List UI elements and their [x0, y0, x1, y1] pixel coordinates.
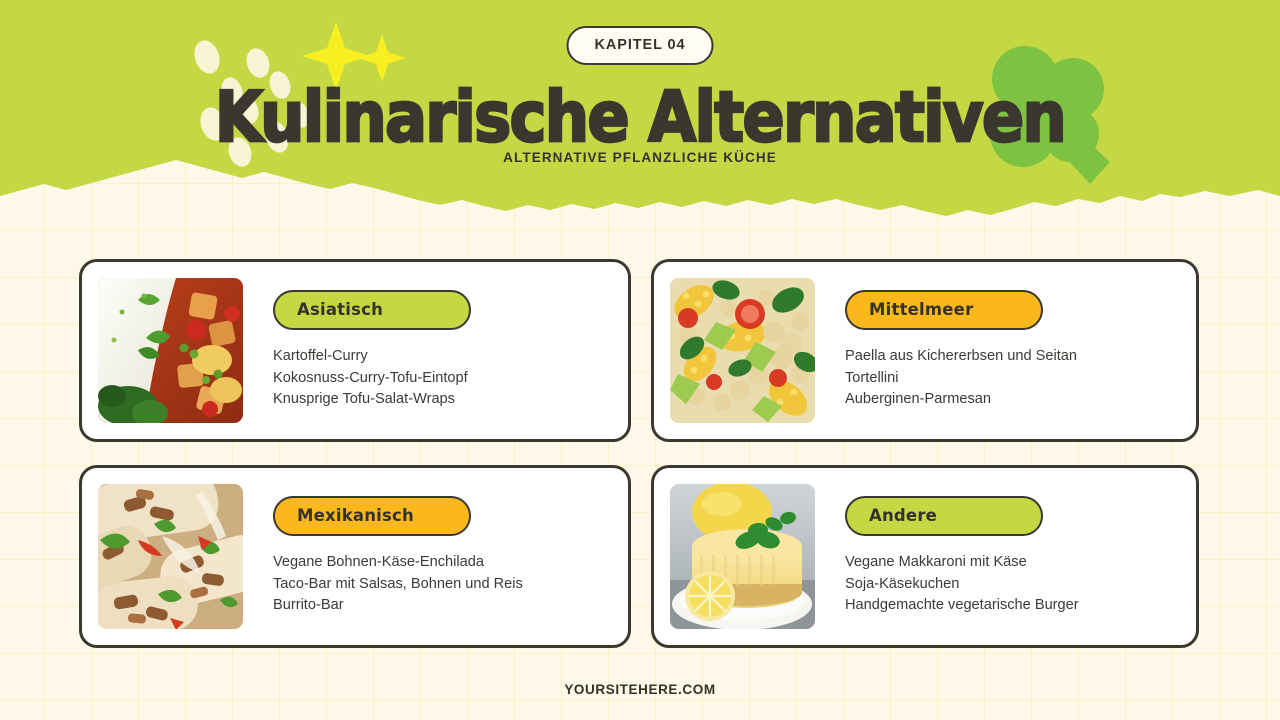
footer-website: YOURSITEHERE.COM	[0, 682, 1280, 697]
dish-item: Soja-Käsekuchen	[845, 574, 1174, 596]
burrito-wraps-photo	[98, 484, 243, 629]
category-card-mexikanisch[interactable]: Mexikanisch Vegane Bohnen-Käse-Enchilada…	[79, 465, 631, 648]
chickpea-corn-salad-photo	[670, 278, 815, 423]
page-subtitle: ALTERNATIVE PFLANZLICHE KÜCHE	[0, 150, 1280, 165]
asian-curry-rice-photo	[98, 278, 243, 423]
slide: KAPITEL 04 Kulinarische Alternativen ALT…	[0, 0, 1280, 720]
dish-item: Taco-Bar mit Salsas, Bohnen und Reis	[273, 574, 606, 596]
category-badge: Mittelmeer	[845, 290, 1043, 330]
category-card-grid: Asiatisch Kartoffel-Curry Kokosnuss-Curr…	[0, 255, 1280, 645]
category-badge: Asiatisch	[273, 290, 471, 330]
dish-item: Paella aus Kichererbsen und Seitan	[845, 346, 1174, 368]
dish-list: Paella aus Kichererbsen und Seitan Torte…	[845, 346, 1174, 411]
chapter-badge: KAPITEL 04	[567, 26, 714, 65]
dish-item: Vegane Makkaroni mit Käse	[845, 552, 1174, 574]
dish-item: Burrito-Bar	[273, 595, 606, 617]
card-body: Mittelmeer Paella aus Kichererbsen und S…	[845, 290, 1180, 411]
dish-list: Kartoffel-Curry Kokosnuss-Curry-Tofu-Ein…	[273, 346, 606, 411]
dish-item: Auberginen-Parmesan	[845, 389, 1174, 411]
category-badge: Mexikanisch	[273, 496, 471, 536]
lemon-cheesecake-photo	[670, 484, 815, 629]
dish-item: Vegane Bohnen-Käse-Enchilada	[273, 552, 606, 574]
card-body: Mexikanisch Vegane Bohnen-Käse-Enchilada…	[273, 496, 612, 617]
dish-item: Kartoffel-Curry	[273, 346, 606, 368]
dish-list: Vegane Bohnen-Käse-Enchilada Taco-Bar mi…	[273, 552, 606, 617]
category-card-asiatisch[interactable]: Asiatisch Kartoffel-Curry Kokosnuss-Curr…	[79, 259, 631, 442]
category-badge: Andere	[845, 496, 1043, 536]
dish-item: Tortellini	[845, 368, 1174, 390]
dish-list: Vegane Makkaroni mit Käse Soja-Käsekuche…	[845, 552, 1174, 617]
dish-item: Handgemachte vegetarische Burger	[845, 595, 1174, 617]
dish-item: Kokosnuss-Curry-Tofu-Eintopf	[273, 368, 606, 390]
category-card-andere[interactable]: Andere Vegane Makkaroni mit Käse Soja-Kä…	[651, 465, 1199, 648]
category-card-mittelmeer[interactable]: Mittelmeer Paella aus Kichererbsen und S…	[651, 259, 1199, 442]
slide-header: KAPITEL 04 Kulinarische Alternativen ALT…	[0, 0, 1280, 232]
card-body: Asiatisch Kartoffel-Curry Kokosnuss-Curr…	[273, 290, 612, 411]
dish-item: Knusprige Tofu-Salat-Wraps	[273, 389, 606, 411]
page-title: Kulinarische Alternativen	[0, 76, 1280, 158]
card-body: Andere Vegane Makkaroni mit Käse Soja-Kä…	[845, 496, 1180, 617]
